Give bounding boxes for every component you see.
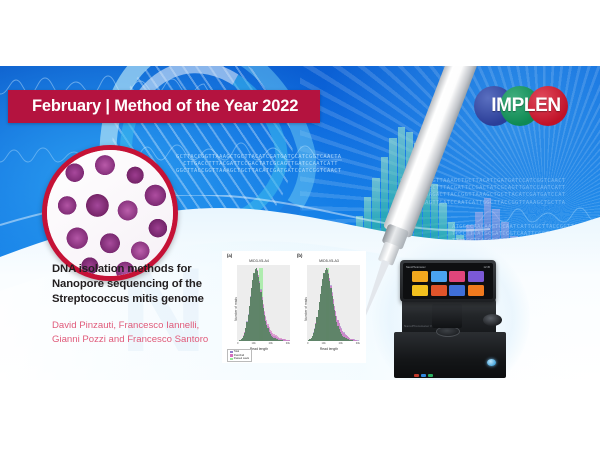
logo-wordmark: IMPLEN: [472, 95, 580, 117]
axis-tick-label: 10k: [321, 342, 325, 345]
screenshot-canvas: GCTTACCGGTTAAAGCTGCTTACATCGATGATCCATCGGT…: [0, 0, 600, 450]
panel-a-plot-area: [237, 265, 290, 341]
status-led: [414, 374, 419, 377]
dna-sequence-text-primary: GCTTACCGGTTAAAGCTGCTTACATCGATGATCCATCGGT…: [176, 154, 341, 176]
bacteria-micrograph: [42, 145, 178, 281]
status-led: [421, 374, 426, 377]
screen-app-tile[interactable]: [431, 271, 447, 282]
status-bar-clock: 12:45: [484, 266, 491, 269]
screen-app-tile[interactable]: [468, 271, 484, 282]
panel-b-xlabel: Read length: [295, 347, 363, 351]
panel-b-title: MID5-V5-A3: [295, 259, 363, 263]
nanophotometer-device: NanoPhotometer N120 NanoPhotometer 12:45: [388, 252, 514, 380]
article-title-line-3: Streptococcus mitis genome: [52, 292, 232, 307]
method-of-the-year-ribbon: February | Method of the Year 2022: [8, 90, 320, 123]
axis-tick-label: 30k: [356, 342, 360, 345]
screen-app-tile[interactable]: [449, 271, 465, 282]
implen-logo[interactable]: IMPLEN: [472, 83, 580, 129]
article-title-line-2: Nanopore sequencing of the: [52, 277, 232, 292]
screen-app-tile[interactable]: [412, 285, 428, 296]
status-bar-title: NanoPhotometer: [406, 266, 426, 269]
screen-app-tile[interactable]: [431, 285, 447, 296]
axis-tick-label: 20k: [269, 342, 273, 345]
streptococcus-cells: [47, 150, 173, 276]
sample-droplet-icon: [487, 359, 496, 366]
device-status-leds: [414, 374, 433, 377]
chart-panel-a: (a) MID3-V5-A4 Number of reads 010k20k30…: [225, 253, 293, 361]
legend-row: Passed reads: [230, 357, 250, 360]
screen-app-tile[interactable]: [449, 285, 465, 296]
screen-app-tile[interactable]: [468, 285, 484, 296]
chart-panel-b: (b) MID5-V5-A3 Number of reads 010k20k30…: [295, 253, 363, 361]
article-authors-line-1: David Pinzauti, Francesco Iannelli,: [52, 319, 232, 333]
legend-swatch: [230, 351, 233, 353]
publication-figure: (a) MID3-V5-A4 Number of reads 010k20k30…: [222, 251, 366, 363]
axis-tick-label: 10k: [251, 342, 255, 345]
panel-a-title: MID3-V5-A4: [225, 259, 293, 263]
device-sample-port[interactable]: [432, 304, 462, 328]
panel-b-xticks: 010k20k30k: [307, 342, 360, 345]
ribbon-label: February | Method of the Year 2022: [32, 97, 298, 116]
screen-app-grid[interactable]: [412, 271, 484, 296]
panel-b-series-passed: [307, 265, 360, 341]
screen-status-bar: NanoPhotometer 12:45: [406, 265, 490, 269]
chart-bar: [282, 340, 283, 341]
panel-a-letter: (a): [227, 253, 232, 258]
panel-b-letter: (b): [297, 253, 302, 258]
axis-tick-label: 20k: [339, 342, 343, 345]
axis-tick-label: 0: [237, 342, 238, 345]
legend-swatch: [230, 354, 233, 356]
legend-label: Passed reads: [234, 357, 249, 360]
legend-swatch: [230, 358, 233, 360]
device-touchscreen[interactable]: NanoPhotometer 12:45: [400, 260, 496, 302]
figure-legend: TotalPass/FailPassed reads: [227, 349, 252, 362]
axis-tick-label: 0: [307, 342, 308, 345]
panel-a-series-passed: [237, 265, 290, 341]
screen-app-tile[interactable]: [412, 271, 428, 282]
device-knob[interactable]: [483, 314, 502, 326]
article-title-line-1: DNA isolation methods for: [52, 262, 232, 277]
article-authors-line-2: Gianni Pozzi and Francesco Santoro: [52, 333, 232, 347]
panel-a-xticks: 010k20k30k: [237, 342, 290, 345]
marketing-banner: GCTTACCGGTTAAAGCTGCTTACATCGATGATCCATCGGT…: [0, 66, 600, 380]
status-led: [428, 374, 433, 377]
axis-tick-label: 30k: [286, 342, 290, 345]
panel-b-plot-area: [307, 265, 360, 341]
article-text-block: DNA isolation methods for Nanopore seque…: [52, 262, 232, 346]
device-base: [394, 332, 506, 378]
chart-bar: [352, 340, 353, 341]
